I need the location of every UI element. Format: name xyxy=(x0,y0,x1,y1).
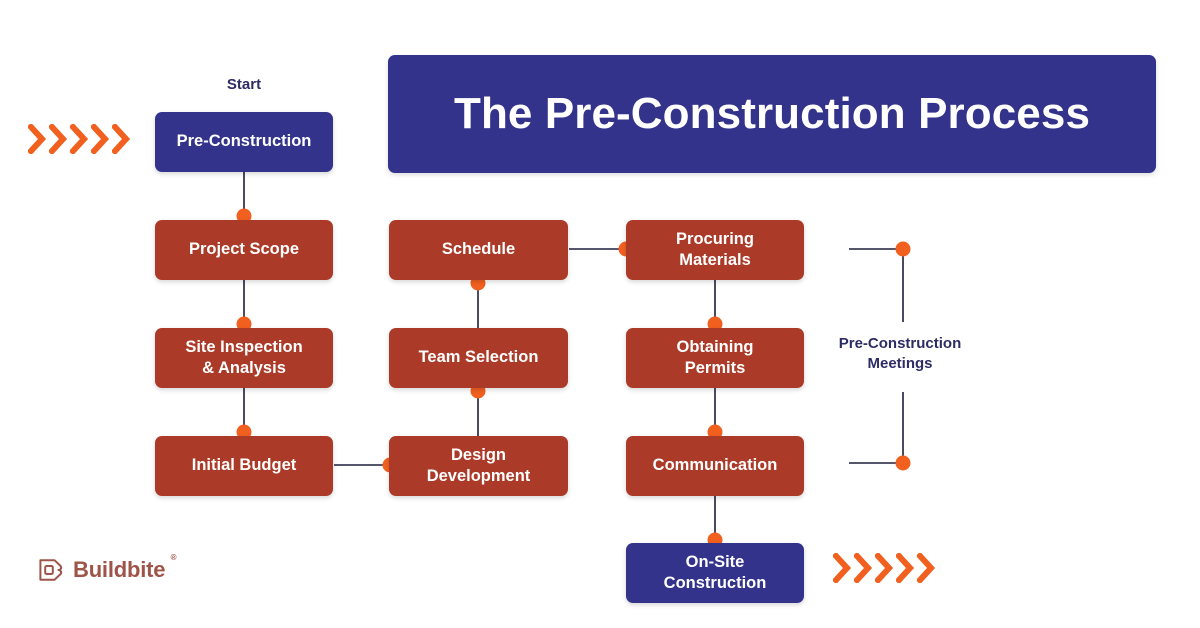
chevron-right-icon xyxy=(70,124,88,154)
node-design-development[interactable]: Design Development xyxy=(389,436,568,496)
node-label: Schedule xyxy=(434,239,523,260)
buildbite-mark-icon xyxy=(38,557,64,583)
connector-dot-meetings-top xyxy=(896,242,911,257)
node-pre-construction[interactable]: Pre-Construction xyxy=(155,112,333,172)
node-label: Initial Budget xyxy=(184,455,305,476)
chevron-right-icon xyxy=(49,124,67,154)
pre-construction-meetings-label: Pre-Construction Meetings xyxy=(805,334,995,375)
node-obtaining-permits[interactable]: Obtaining Permits xyxy=(626,328,804,388)
node-label: Site Inspection & Analysis xyxy=(177,337,310,379)
node-label: Project Scope xyxy=(181,239,307,260)
node-label: Design Development xyxy=(419,445,539,487)
node-schedule[interactable]: Schedule xyxy=(389,220,568,280)
node-team-selection[interactable]: Team Selection xyxy=(389,328,568,388)
node-procuring-materials[interactable]: Procuring Materials xyxy=(626,220,804,280)
node-initial-budget[interactable]: Initial Budget xyxy=(155,436,333,496)
chevron-right-icon xyxy=(875,553,893,583)
node-communication[interactable]: Communication xyxy=(626,436,804,496)
title-banner: The Pre-Construction Process xyxy=(388,55,1156,173)
node-label: On-Site Construction xyxy=(656,552,775,594)
node-label: Team Selection xyxy=(411,347,547,368)
buildbite-logo: Buildbite ® xyxy=(38,557,165,583)
chevron-right-icon xyxy=(28,124,46,154)
start-label: Start xyxy=(170,75,318,95)
chevron-right-icon xyxy=(896,553,914,583)
logo-wordmark: Buildbite ® xyxy=(73,557,165,583)
chevron-group-right xyxy=(833,553,935,583)
node-project-scope[interactable]: Project Scope xyxy=(155,220,333,280)
registered-trademark-icon: ® xyxy=(171,553,177,562)
node-label: Communication xyxy=(645,455,786,476)
logo-text: Buildbite xyxy=(73,557,165,582)
chevron-right-icon xyxy=(91,124,109,154)
chevron-right-icon xyxy=(833,553,851,583)
node-label: Procuring Materials xyxy=(668,229,762,271)
chevron-right-icon xyxy=(112,124,130,154)
node-label: Pre-Construction xyxy=(169,131,320,152)
chevron-right-icon xyxy=(917,553,935,583)
node-label: Obtaining Permits xyxy=(669,337,762,379)
node-site-inspection-analysis[interactable]: Site Inspection & Analysis xyxy=(155,328,333,388)
connector-dot-meetings-bottom xyxy=(896,456,911,471)
page-title: The Pre-Construction Process xyxy=(454,90,1090,138)
node-on-site-construction[interactable]: On-Site Construction xyxy=(626,543,804,603)
chevron-group-left xyxy=(28,124,130,154)
chevron-right-icon xyxy=(854,553,872,583)
infographic-canvas: The Pre-Construction Process Start xyxy=(0,0,1200,628)
